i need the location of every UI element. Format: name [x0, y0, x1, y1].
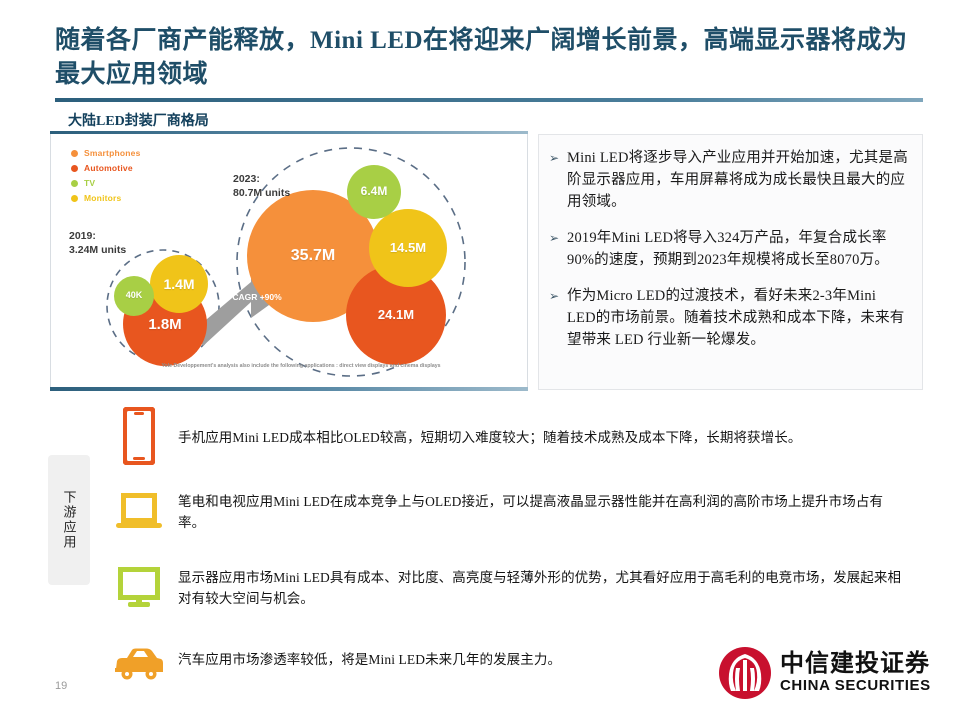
- bullet-arrow-icon: ➢: [549, 285, 567, 351]
- title-divider: [55, 98, 923, 102]
- section-subtitle: 大陆LED封装厂商格局: [62, 110, 532, 130]
- legend-label: Automotive: [84, 163, 133, 173]
- legend-item-smartphones: Smartphones: [71, 148, 141, 158]
- bullet-arrow-icon: ➢: [549, 227, 567, 271]
- application-text: 笔电和电视应用Mini LED在成本竞争上与OLED接近，可以提高液晶显示器性能…: [178, 481, 910, 533]
- brand-name-en: CHINA SECURITIES: [780, 677, 931, 695]
- downstream-applications-label: 下游应用: [59, 490, 80, 550]
- car-icon: [113, 647, 165, 681]
- application-icon-wrap: [100, 633, 178, 695]
- bubble-label-2023-tv: 6.4M: [347, 184, 401, 198]
- bullet-arrow-icon: ➢: [549, 147, 567, 213]
- legend-dot-icon: [71, 195, 78, 202]
- brand-logo: 中信建投证券 CHINA SECURITIES: [718, 646, 931, 700]
- insight-bullet: ➢ 作为Micro LED的过渡技术，看好未来2-3年Mini LED的市场前景…: [549, 285, 908, 351]
- legend-item-tv: TV: [71, 178, 141, 188]
- application-icon-wrap: [100, 557, 178, 619]
- page-title-text: 随着各厂商产能释放，Mini LED在将迎来广阔增长前景，高端显示器将成为最大应…: [55, 24, 915, 92]
- chart-footnote: Yole Développement's analysis also inclu…: [141, 362, 461, 370]
- chart-legend: Smartphones Automotive TV Monitors: [71, 148, 141, 208]
- legend-item-monitors: Monitors: [71, 193, 141, 203]
- bubble-label-2023-monitors: 14.5M: [378, 240, 438, 255]
- bubble-label-2023-smartphones: 35.7M: [278, 247, 348, 265]
- chart-panel-bottom-rule: [50, 387, 528, 391]
- section-subtitle-text: 大陆LED封装厂商格局: [62, 110, 532, 130]
- legend-label: Monitors: [84, 193, 121, 203]
- group-label-2019: 2019: 3.24M units: [69, 229, 126, 257]
- application-text: 显示器应用市场Mini LED具有成本、对比度、高亮度与轻薄外形的优势，尤其看好…: [178, 557, 910, 609]
- group-label-2023: 2023: 80.7M units: [233, 172, 290, 200]
- bubble-label-2019-monitors: 1.4M: [154, 276, 204, 292]
- insight-bullet: ➢ Mini LED将逐步导入产业应用并开始加速，尤其是高阶显示器应用，车用屏幕…: [549, 147, 908, 213]
- legend-dot-icon: [71, 165, 78, 172]
- laptop-icon: [116, 493, 162, 531]
- application-row: 笔电和电视应用Mini LED在成本竞争上与OLED接近，可以提高液晶显示器性能…: [100, 481, 910, 543]
- insights-panel: ➢ Mini LED将逐步导入产业应用并开始加速，尤其是高阶显示器应用，车用屏幕…: [538, 134, 923, 390]
- legend-item-automotive: Automotive: [71, 163, 141, 173]
- cagr-annotation-label: CAGR +90%: [227, 292, 287, 303]
- bubble-label-2023-automotive: 24.1M: [366, 307, 426, 322]
- application-icon-wrap: [100, 481, 178, 543]
- china-securities-mark-icon: [718, 646, 772, 700]
- insight-bullet: ➢ 2019年Mini LED将导入324万产品，年复合成长率90%的速度，预期…: [549, 227, 908, 271]
- insight-bullet-text: Mini LED将逐步导入产业应用并开始加速，尤其是高阶显示器应用，车用屏幕将成…: [567, 147, 908, 213]
- insight-bullet-text: 作为Micro LED的过渡技术，看好未来2-3年Mini LED的市场前景。随…: [567, 285, 908, 351]
- page-number: 19: [55, 680, 67, 692]
- bubble-label-2019-automotive: 1.8M: [135, 316, 195, 333]
- monitor-icon: [117, 567, 161, 609]
- bubble-label-2019-tv: 40K: [114, 290, 154, 300]
- legend-dot-icon: [71, 180, 78, 187]
- brand-text-block: 中信建投证券 CHINA SECURITIES: [780, 651, 931, 695]
- brand-name-cn: 中信建投证券: [780, 651, 931, 677]
- smartphone-icon: [123, 407, 155, 465]
- legend-label: TV: [84, 178, 95, 188]
- application-text: 手机应用Mini LED成本相比OLED较高，短期切入难度较大；随着技术成熟及成…: [178, 405, 910, 448]
- application-row: 手机应用Mini LED成本相比OLED较高，短期切入难度较大；随着技术成熟及成…: [100, 405, 910, 467]
- bubble-chart-panel: Smartphones Automotive TV Monitors 2019:…: [50, 134, 528, 390]
- downstream-applications-tab: 下游应用: [48, 455, 90, 585]
- legend-dot-icon: [71, 150, 78, 157]
- page-title: 随着各厂商产能释放，Mini LED在将迎来广阔增长前景，高端显示器将成为最大应…: [55, 24, 915, 92]
- application-icon-wrap: [100, 405, 178, 467]
- application-row: 显示器应用市场Mini LED具有成本、对比度、高亮度与轻薄外形的优势，尤其看好…: [100, 557, 910, 619]
- slide-root: 随着各厂商产能释放，Mini LED在将迎来广阔增长前景，高端显示器将成为最大应…: [0, 0, 960, 720]
- insight-bullet-text: 2019年Mini LED将导入324万产品，年复合成长率90%的速度，预期到2…: [567, 227, 908, 271]
- legend-label: Smartphones: [84, 148, 141, 158]
